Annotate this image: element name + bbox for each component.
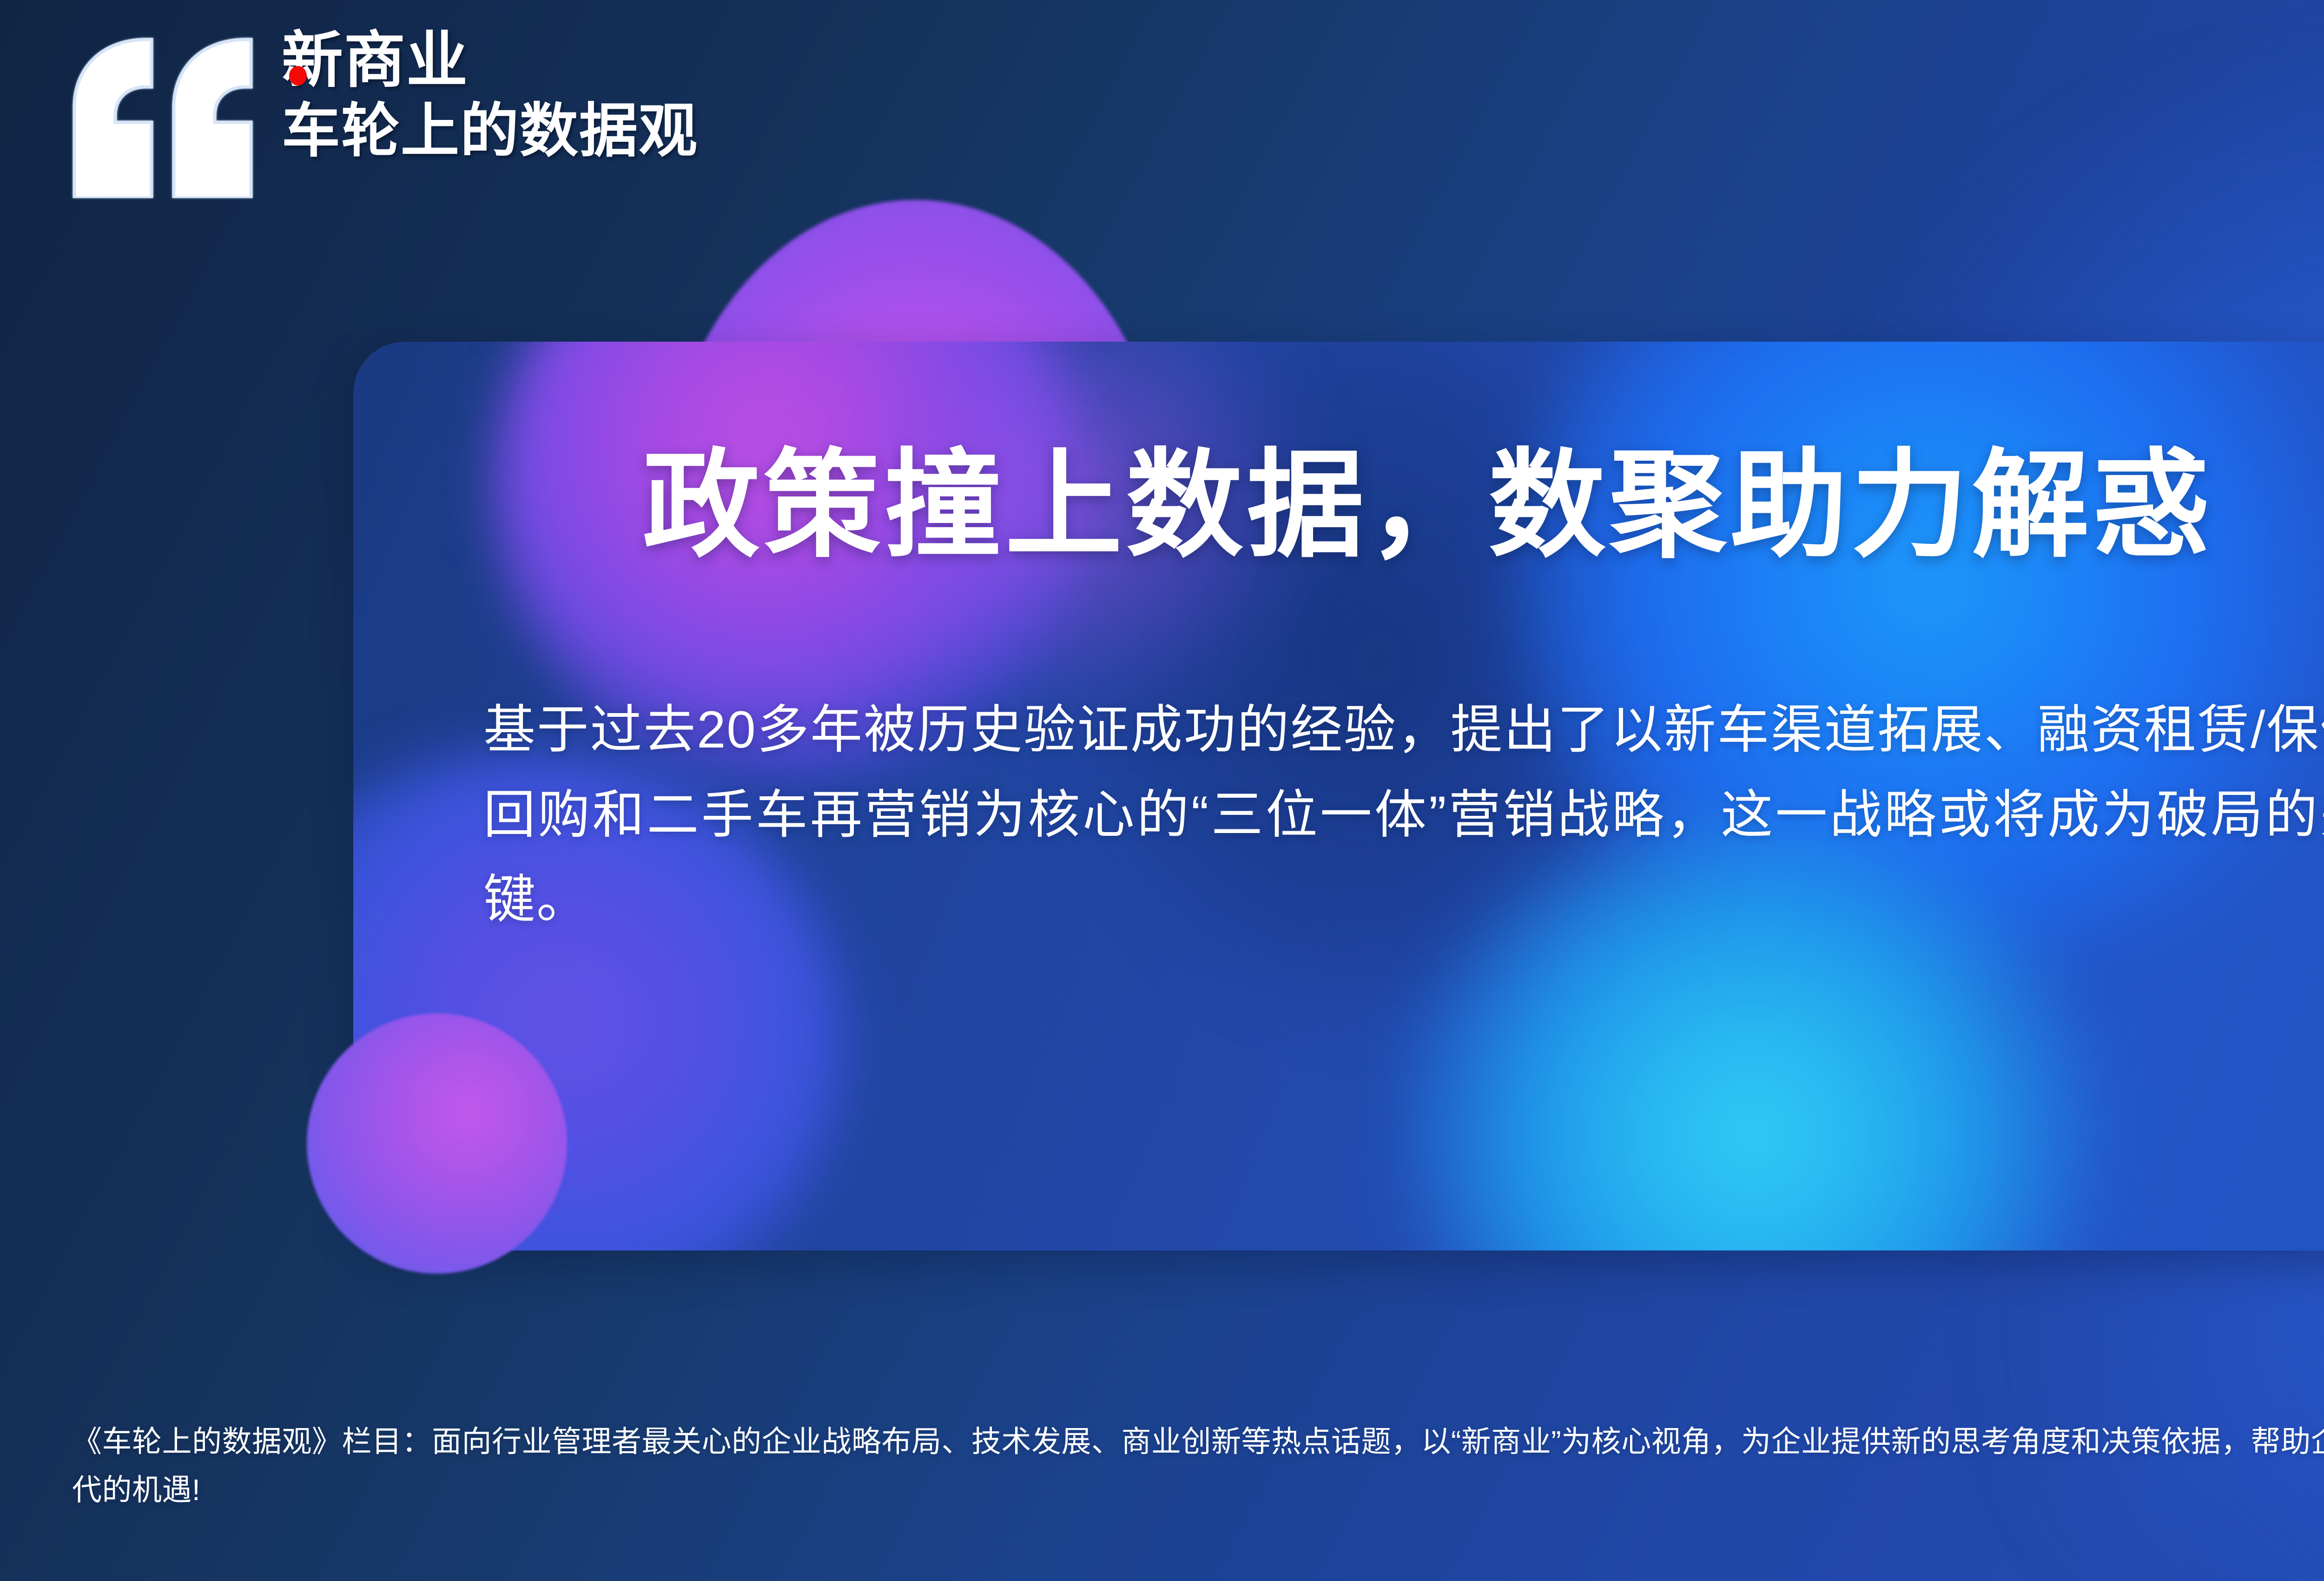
- column-name: 车轮上的数据观: [282, 101, 698, 161]
- summary-paragraph: 基于过去20多年被历史验证成功的经验，提出了以新车渠道拓展、融资租赁/保值回购和…: [483, 688, 2324, 942]
- quotation-mark-icon: [70, 38, 256, 198]
- violet-blob-overflow-left: [307, 1013, 567, 1274]
- headline: 政策撞上数据，数聚助力解惑: [446, 440, 2324, 571]
- brand-accent-dot: [289, 66, 307, 86]
- footer-description: 《车轮上的数据观》栏目：面向行业管理者最关心的企业战略布局、技术发展、商业创新等…: [72, 1418, 2324, 1514]
- card-body: 政策撞上数据，数聚助力解惑 基于过去20多年被历史验证成功的经验，提出了以新车渠…: [353, 342, 2324, 1250]
- brand-text-block: 新商业 车轮上的数据观: [282, 26, 698, 161]
- brand-header: 新商业 车轮上的数据观: [70, 26, 698, 198]
- slide-canvas: 新商业 车轮上的数据观 政策撞上数据，数聚助力解惑 基于过去20多年被历史验证成…: [0, 0, 2324, 1581]
- content-card: 政策撞上数据，数聚助力解惑 基于过去20多年被历史验证成功的经验，提出了以新车渠…: [353, 342, 2324, 1250]
- brand-name: 新商业: [282, 26, 469, 94]
- brand-name-line: 新商业: [282, 29, 698, 92]
